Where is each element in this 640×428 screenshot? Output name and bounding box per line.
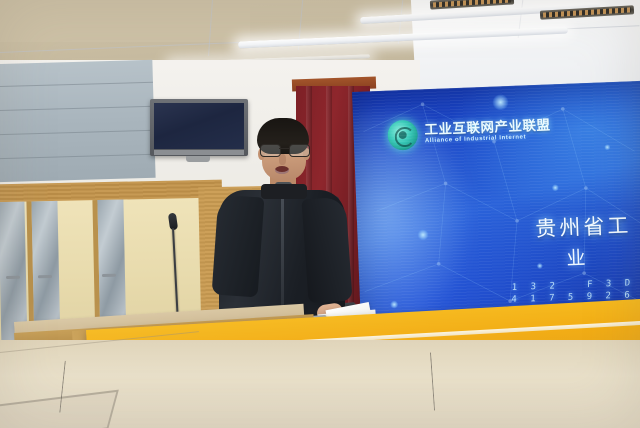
speaker-eyebrow-right xyxy=(287,140,303,143)
speaker-collar xyxy=(261,184,307,199)
door-handle[interactable] xyxy=(102,274,116,277)
alliance-logo: 工业互联网产业联盟 Alliance of Industrial Interne… xyxy=(387,114,551,150)
speaker-nose xyxy=(279,154,286,165)
conference-photo: 工业互联网产业联盟 Alliance of Industrial Interne… xyxy=(0,0,640,428)
speaker-mouth xyxy=(275,166,289,174)
screen-headline-line2: 业 xyxy=(566,243,589,271)
wall-grey-panel xyxy=(0,60,156,182)
alliance-swirl-gear-logo-icon xyxy=(387,120,418,151)
screen-headline-line1: 贵州省工 xyxy=(535,209,632,243)
door-handle[interactable] xyxy=(38,275,52,278)
tv-wall-mount xyxy=(186,156,210,162)
door-handle[interactable] xyxy=(6,276,20,279)
speaker-shoulder-right xyxy=(301,197,352,304)
speaker-shoulder-left xyxy=(212,195,265,298)
speaker-eyebrow-left xyxy=(263,140,279,143)
jacket-zipper xyxy=(281,198,284,318)
